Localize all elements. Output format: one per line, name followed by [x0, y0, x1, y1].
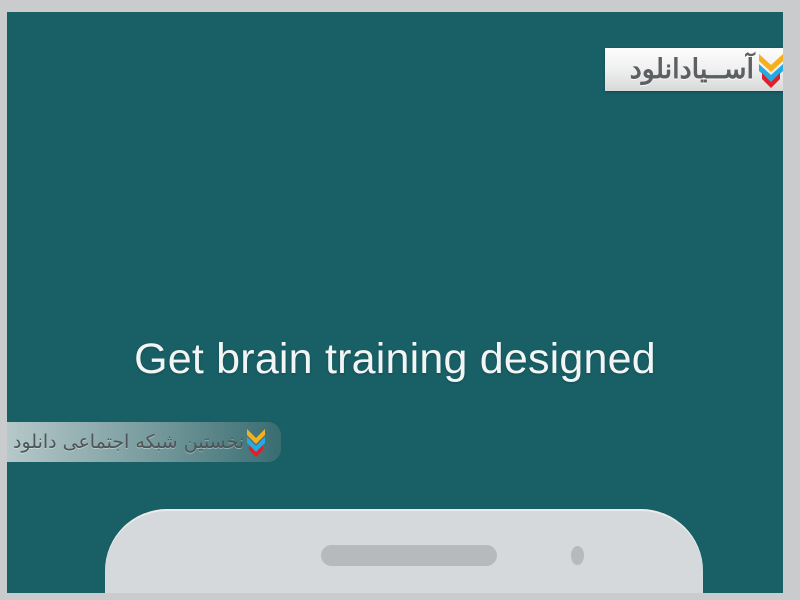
triple-chevron-down-icon	[244, 427, 268, 457]
brand-logo[interactable]: آســیادانلود	[605, 48, 783, 91]
brand-logo-label: آســیادانلود	[630, 56, 754, 83]
headline-line-1: Get brain training designed	[7, 328, 783, 391]
earpiece-speaker-icon	[321, 545, 497, 566]
smartphone-device	[105, 509, 703, 593]
watermark-label: نخستین شبکه اجتماعی دانلود	[13, 433, 244, 452]
triple-chevron-down-icon	[756, 52, 783, 88]
slide-stage: Get brain training designed by in-house …	[7, 12, 783, 593]
front-camera-icon	[571, 546, 584, 565]
watermark-badge: نخستین شبکه اجتماعی دانلود	[7, 422, 281, 462]
slide-screenshot: Get brain training designed by in-house …	[0, 0, 800, 600]
